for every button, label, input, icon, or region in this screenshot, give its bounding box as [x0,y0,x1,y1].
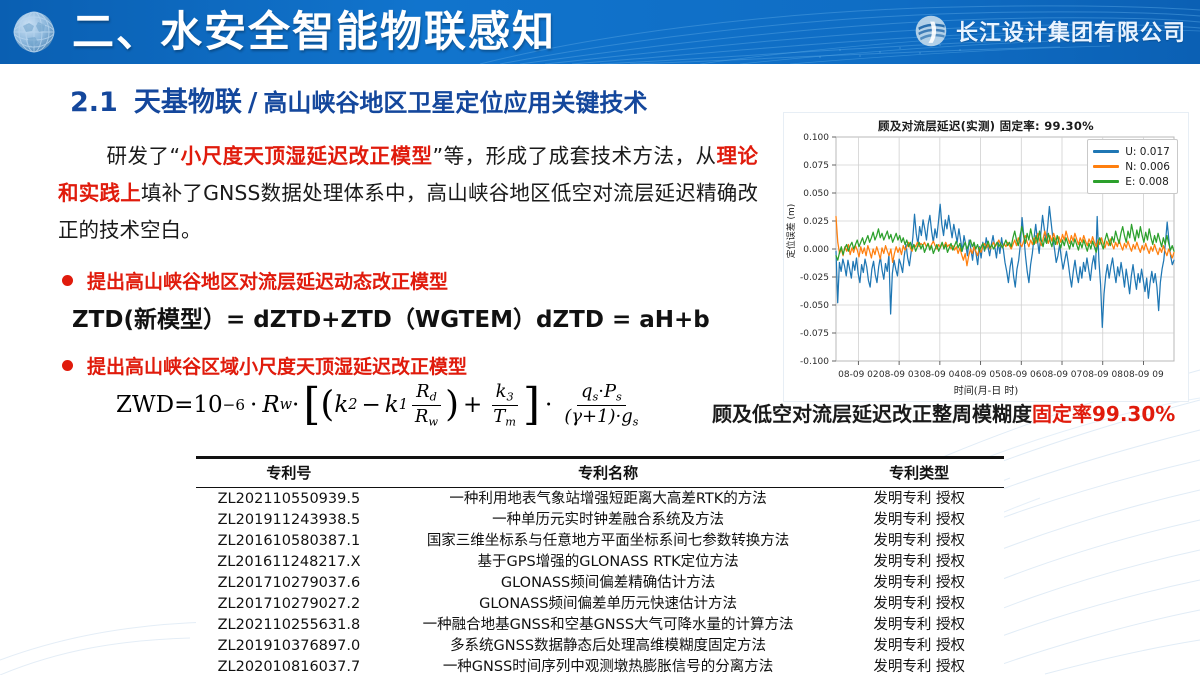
cell-patent-type: 发明专利 授权 [834,551,1004,572]
table-row: ZL202110255631.8一种融合地基GNSS和空基GNSS大气可降水量的… [196,614,1004,635]
math-Rd: R [416,381,430,402]
svg-text:08-09 08: 08-09 08 [1083,370,1124,380]
paragraph-part2: 等，形成了成套技术方法，从 [443,144,716,168]
math-Rw-den-sub: w [428,415,438,428]
globe-icon [10,8,58,56]
cell-patent-no: ZL201910376897.0 [196,635,382,656]
table-row: ZL201910376897.0多系统GNSS数据静态后处理高维模糊度固定方法发… [196,635,1004,656]
table-body: ZL202110550939.5一种利用地表气象站增强短距离大高差RTK的方法发… [196,488,1004,675]
math-qs: q [581,381,592,402]
svg-text:-0.100: -0.100 [800,357,829,367]
math-frac-qsPs: qs·Ps (γ+1)·gs [560,382,642,428]
math-minus: − [361,392,380,418]
patent-table: 专利号 专利名称 专利类型 ZL202110550939.5一种利用地表气象站增… [196,459,1004,675]
quote-open: “ [169,144,180,168]
table-row: ZL201710279037.6GLONASS频间偏差精确估计方法发明专利 授权 [196,572,1004,593]
slide-header: 二、水安全智能物联感知 长江设计集团有限公司 [0,0,1200,64]
math-dot-2: · [292,392,299,418]
math-k1: k [385,392,399,418]
cell-patent-no: ZL201710279027.2 [196,593,382,614]
paragraph-highlight-model: 小尺度天顶湿延迟改正模型 [180,144,432,168]
cell-patent-no: ZL201610580387.1 [196,530,382,551]
svg-text:08-09 09: 08-09 09 [1123,370,1164,380]
legend-label: U: 0.017 [1125,146,1170,158]
paragraph-part1: 研发了 [106,144,169,168]
math-Rd-sub: d [430,390,437,403]
paragraph-part3: 填补了GNSS数据处理体系中，高山峡谷地区低空对流层延迟精确改正的技术空白。 [58,181,758,242]
zwd-math-formula: ZWD=10−6 · Rw· [ ( k2 − k1 Rd Rw ) + k3 … [116,382,645,428]
svg-text:-0.075: -0.075 [800,329,829,339]
cell-patent-type: 发明专利 授权 [834,530,1004,551]
company-name: 长江设计集团有限公司 [956,15,1186,47]
legend-line-icon [1093,180,1119,183]
legend-label: E: 0.008 [1125,176,1169,188]
math-k3: k [496,381,507,402]
quote-close: ” [433,144,444,168]
math-Rw-den: R [415,406,429,427]
section-sub-title: 高山峡谷地区卫星定位应用关键技术 [263,89,647,117]
legend-item-U: U: 0.017 [1093,144,1170,159]
svg-text:-0.050: -0.050 [800,301,829,311]
math-Tm: T [493,406,505,427]
svg-text:0.025: 0.025 [803,217,829,227]
section-number: 2.1 [70,87,118,118]
positioning-error-chart: 顾及对流层延迟(实测) 固定率: 99.30% 定位误差 (m) 时间(月-日 … [783,112,1189,402]
table-row: ZL202110550939.5一种利用地表气象站增强短距离大高差RTK的方法发… [196,488,1004,510]
cell-patent-type: 发明专利 授权 [834,614,1004,635]
math-k1-sub: 1 [399,397,408,413]
cell-patent-name: 一种单历元实时钟差融合系统及方法 [382,509,834,530]
svg-text:0.100: 0.100 [803,133,829,143]
cell-patent-type: 发明专利 授权 [834,488,1004,510]
math-frac-Rd-Rw: Rd Rw [411,382,442,428]
ztd-formula-text: ZTD(新模型）= dZTD+ZTD（WGTEM）dZTD = aH+b [72,300,710,334]
table-header-row: 专利号 专利名称 专利类型 [196,459,1004,488]
company-logo-icon [914,14,948,48]
svg-text:0.075: 0.075 [803,161,829,171]
cell-patent-name: 基于GPS增强的GLONASS RTK定位方法 [382,551,834,572]
svg-text:0.050: 0.050 [803,189,829,199]
math-bracket-close: ] [523,388,540,423]
header-title-text: 水安全智能物联感知 [160,7,556,56]
math-k2: k [334,392,348,418]
section-heading: 2.1天基物联/高山峡谷地区卫星定位应用关键技术 [70,80,647,119]
svg-text:08-09 03: 08-09 03 [879,370,919,380]
table-row: ZL201710279027.2GLONASS频间偏差单历元快速估计方法发明专利… [196,593,1004,614]
cell-patent-no: ZL202110255631.8 [196,614,382,635]
svg-text:08-09 07: 08-09 07 [1042,370,1082,380]
cell-patent-type: 发明专利 授权 [834,509,1004,530]
cell-patent-name: 多系统GNSS数据静态后处理高维模糊度固定方法 [382,635,834,656]
cell-patent-no: ZL201911243938.5 [196,509,382,530]
svg-text:-0.025: -0.025 [800,273,829,283]
chart-legend: U: 0.017N: 0.006E: 0.008 [1087,139,1178,194]
table-row: ZL201610580387.1国家三维坐标系与任意地方平面坐标系间七参数转换方… [196,530,1004,551]
cell-patent-name: 一种融合地基GNSS和空基GNSS大气可降水量的计算方法 [382,614,834,635]
math-Ps-sub: s [616,390,622,403]
math-k3-sub: 3 [506,390,513,403]
cell-patent-name: 一种利用地表气象站增强短距离大高差RTK的方法 [382,488,834,510]
header-number: 二、 [72,7,160,56]
body-paragraph: 研发了“小尺度天顶湿延迟改正模型”等，形成了成套技术方法，从理论和实践上填补了G… [58,138,758,249]
table-row: ZL202010816037.7一种GNSS时间序列中观测墩热膨胀信号的分离方法… [196,656,1004,675]
math-exponent: −6 [223,396,245,414]
bullet-item-2: 提出高山峡谷区域小尺度天顶湿延迟改正模型 [62,352,467,379]
company-branding: 长江设计集团有限公司 [914,14,1186,48]
cell-patent-name: GLONASS频间偏差精确估计方法 [382,572,834,593]
math-den: (γ+1)·g [564,406,632,427]
cell-patent-no: ZL201710279037.6 [196,572,382,593]
svg-text:0.000: 0.000 [803,245,829,255]
slide-canvas: 二、水安全智能物联感知 长江设计集团有限公司 2.1天基物联/高山峡谷地区卫星定… [0,0,1200,675]
col-header-patent-no: 专利号 [196,459,382,488]
math-Rw: R [262,392,279,418]
math-lhs: ZWD [116,392,174,418]
svg-text:08-09 06: 08-09 06 [1001,370,1042,380]
cell-patent-no: ZL201611248217.X [196,551,382,572]
cell-patent-type: 发明专利 授权 [834,593,1004,614]
bullet-dot-icon [62,360,73,371]
svg-text:08-09 05: 08-09 05 [960,370,1000,380]
math-base: 10 [193,392,222,418]
math-paren-open: ( [320,391,334,420]
patent-table-wrapper: 专利号 专利名称 专利类型 ZL202110550939.5一种利用地表气象站增… [196,456,1004,675]
math-frac-k3-Tm: k3 Tm [489,382,520,428]
page-title: 二、水安全智能物联感知 [72,3,556,61]
math-k2-sub: 2 [348,397,357,413]
svg-text:08-09 04: 08-09 04 [920,370,961,380]
cell-patent-type: 发明专利 授权 [834,572,1004,593]
svg-text:08-09 02: 08-09 02 [838,370,878,380]
legend-item-N: N: 0.006 [1093,159,1170,174]
col-header-patent-name: 专利名称 [382,459,834,488]
cell-patent-no: ZL202110550939.5 [196,488,382,510]
math-paren-close: ) [445,391,459,420]
legend-label: N: 0.006 [1125,161,1170,173]
chart-caption: 顾及低空对流层延迟改正整周模糊度固定率99.30% [712,398,1175,427]
cell-patent-name: 国家三维坐标系与任意地方平面坐标系间七参数转换方法 [382,530,834,551]
chart-caption-text: 顾及低空对流层延迟改正整周模糊度 [712,402,1032,426]
bullet-item-1: 提出高山峡谷地区对流层延迟动态改正模型 [62,267,448,294]
legend-line-icon [1093,150,1119,153]
math-Ps: P [604,381,616,402]
section-main-title: 天基物联 [134,87,242,118]
legend-line-icon [1093,165,1119,168]
cell-patent-type: 发明专利 授权 [834,635,1004,656]
bullet-label-1: 提出高山峡谷地区对流层延迟动态改正模型 [87,267,448,294]
cell-patent-no: ZL202010816037.7 [196,656,382,675]
chart-caption-highlight: 固定率99.30% [1032,402,1175,426]
table-row: ZL201611248217.X基于GPS增强的GLONASS RTK定位方法发… [196,551,1004,572]
col-header-patent-type: 专利类型 [834,459,1004,488]
math-eq: = [174,392,193,418]
section-separator: / [248,88,258,118]
math-bracket-open: [ [303,388,320,423]
bullet-dot-icon [62,275,73,286]
table-row: ZL201911243938.5一种单历元实时钟差融合系统及方法发明专利 授权 [196,509,1004,530]
cell-patent-name: GLONASS频间偏差单历元快速估计方法 [382,593,834,614]
math-den-sub: s [633,415,639,428]
math-plus: + [463,392,482,418]
bullet-label-2: 提出高山峡谷区域小尺度天顶湿延迟改正模型 [87,352,467,379]
math-dot-1: · [250,392,257,418]
legend-item-E: E: 0.008 [1093,174,1170,189]
math-Rw-sub: w [280,397,292,413]
cell-patent-name: 一种GNSS时间序列中观测墩热膨胀信号的分离方法 [382,656,834,675]
cell-patent-type: 发明专利 授权 [834,656,1004,675]
math-dot-3: · [545,392,552,418]
math-Tm-sub: m [505,415,516,428]
